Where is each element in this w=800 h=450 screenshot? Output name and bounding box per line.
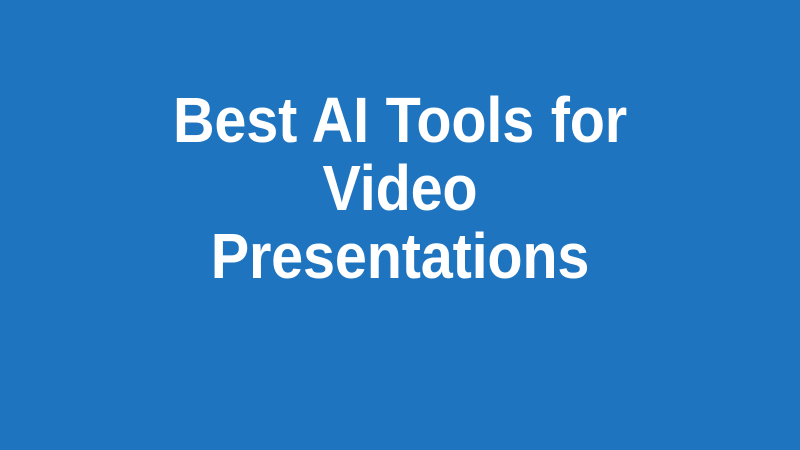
slide-title: Best AI Tools for Video Presentations [112, 86, 688, 290]
title-block: Best AI Tools for Video Presentations [0, 86, 800, 290]
slide-canvas: Best AI Tools for Video Presentations [0, 0, 800, 450]
